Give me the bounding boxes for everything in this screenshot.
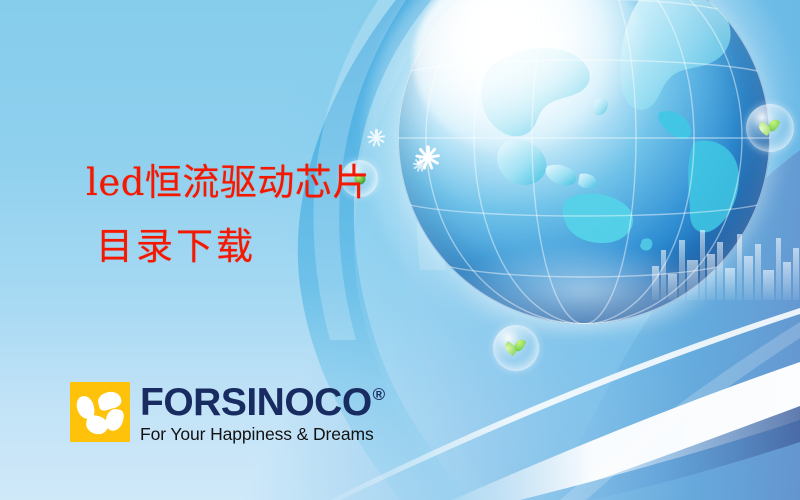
brand-wordmark: FORSINOCO ® [140, 384, 385, 422]
brand-logo: FORSINOCO ® For Your Happiness & Dreams [70, 382, 385, 445]
petal-shape [96, 389, 123, 412]
brand-text-block: FORSINOCO ® For Your Happiness & Dreams [140, 382, 385, 445]
four-petal-pinwheel-icon [70, 382, 130, 442]
petal-shape [75, 395, 95, 420]
headline: led恒流驱动芯片 目录下载 [0, 163, 400, 267]
headline-line-2: 目录下载 [0, 227, 400, 267]
headline-line-1: led恒流驱动芯片 [0, 163, 400, 203]
brand-tagline: For Your Happiness & Dreams [140, 424, 385, 445]
brand-wordmark-text: FORSINOCO [140, 384, 372, 422]
registered-trademark-icon: ® [373, 386, 385, 403]
poster-canvas: led恒流驱动芯片 目录下载 FORSINOCO ® For Your Happ… [0, 0, 800, 500]
